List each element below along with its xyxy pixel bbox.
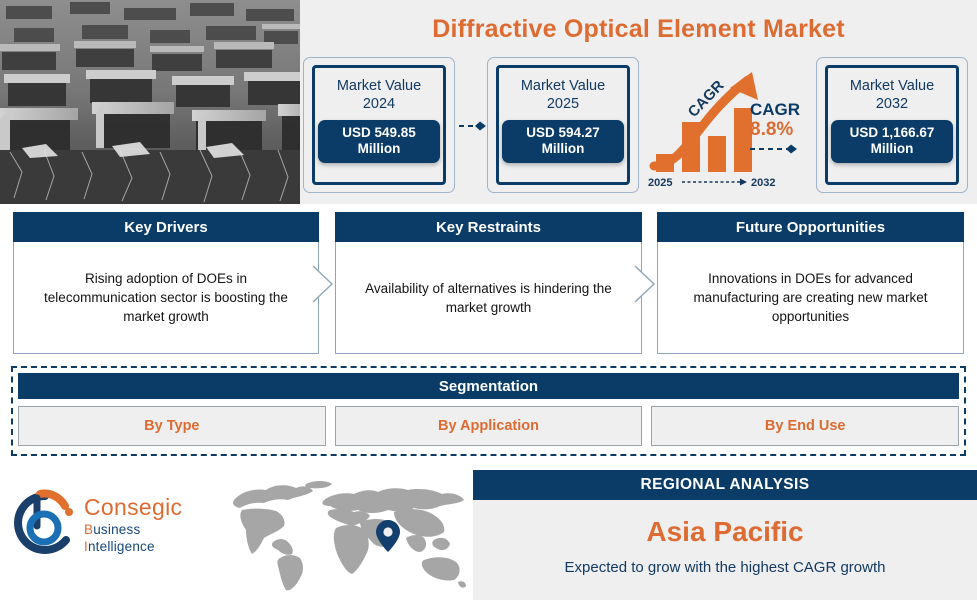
segmentation-section: Segmentation By Type By Application By E… — [11, 366, 966, 456]
segmentation-heading: Segmentation — [18, 373, 959, 399]
cagr-label: CAGR — [750, 100, 812, 119]
logo-tagline-w2: ntelligence — [88, 539, 155, 554]
market-value-year: 2024 — [363, 96, 395, 112]
company-logo: Consegic Business Intelligence — [14, 488, 214, 566]
cagr-start-year: 2025 — [648, 177, 672, 189]
market-value-card-2032: Market Value 2032 USD 1,166.67 Million — [816, 57, 968, 193]
logo-tagline: Business Intelligence — [84, 521, 214, 555]
cagr-end-year: 2032 — [751, 177, 775, 189]
market-value-card-inner: Market Value 2032 USD 1,166.67 Million — [825, 65, 959, 185]
segmentation-item-by-type[interactable]: By Type — [18, 406, 326, 446]
market-value-amount-line1: USD 549.85 — [342, 125, 416, 140]
cagr-value: 8.8% — [750, 119, 812, 141]
panel-key-restraints: Key Restraints Availability of alternati… — [335, 212, 642, 354]
consegic-mark-icon — [14, 488, 76, 560]
market-value-amount: USD 549.85 Million — [318, 120, 440, 163]
market-value-year: 2025 — [547, 96, 579, 112]
logo-tagline-w1: usiness — [93, 522, 140, 537]
page-title: Diffractive Optical Element Market — [300, 8, 977, 50]
market-value-card-inner: Market Value 2024 USD 549.85 Million — [312, 65, 446, 185]
cagr-readout: CAGR 8.8% — [750, 100, 812, 159]
market-value-amount-line1: USD 1,166.67 — [850, 125, 935, 140]
market-value-label: Market Value 2032 — [850, 77, 934, 113]
market-value-amount-line1: USD 594.27 — [526, 125, 600, 140]
connector-dashed-arrow-2 — [750, 144, 806, 154]
panel-body: Availability of alternatives is hinderin… — [335, 242, 642, 354]
panel-heading: Key Drivers — [13, 212, 319, 242]
segmentation-item-by-application[interactable]: By Application — [335, 406, 643, 446]
hero-sem-micrograph — [0, 0, 300, 204]
panel-future-opportunities: Future Opportunities Innovations in DOEs… — [657, 212, 964, 354]
segmentation-item-by-end-use[interactable]: By End Use — [651, 406, 959, 446]
market-value-amount: USD 594.27 Million — [502, 120, 624, 163]
market-value-year: 2032 — [876, 96, 908, 112]
panel-heading: Key Restraints — [335, 212, 642, 242]
regional-analysis-note: Expected to grow with the highest CAGR g… — [473, 559, 977, 576]
regional-analysis-region: Asia Pacific — [473, 516, 977, 548]
market-value-label-line1: Market Value — [521, 78, 605, 94]
logo-text: Consegic Business Intelligence — [84, 494, 214, 555]
chevron-right-icon — [634, 262, 658, 306]
panel-key-drivers: Key Drivers Rising adoption of DOEs in t… — [13, 212, 319, 354]
market-value-amount-unit: Million — [542, 141, 585, 156]
market-value-card-2024: Market Value 2024 USD 549.85 Million — [303, 57, 455, 193]
market-value-amount-unit: Million — [358, 141, 401, 156]
chevron-right-icon — [312, 262, 336, 306]
connector-dashed-arrow — [459, 121, 489, 131]
infographic-page: Diffractive Optical Element Market Marke… — [0, 0, 977, 600]
market-value-amount: USD 1,166.67 Million — [831, 120, 953, 163]
market-value-label-line1: Market Value — [337, 78, 421, 94]
market-value-amount-unit: Million — [871, 141, 914, 156]
segmentation-items: By Type By Application By End Use — [18, 406, 959, 446]
logo-tagline-b1: B — [84, 522, 93, 537]
panel-heading: Future Opportunities — [657, 212, 964, 242]
map-location-pin-icon — [376, 520, 400, 552]
regional-analysis-panel: REGIONAL ANALYSIS Asia Pacific Expected … — [473, 470, 977, 600]
world-map — [218, 476, 470, 594]
market-value-label: Market Value 2025 — [521, 77, 605, 113]
market-value-label-line1: Market Value — [850, 78, 934, 94]
regional-analysis-heading: REGIONAL ANALYSIS — [473, 470, 977, 500]
panel-body: Rising adoption of DOEs in telecommunica… — [13, 242, 319, 354]
logo-company-name: Consegic — [84, 494, 214, 521]
market-value-label: Market Value 2024 — [337, 77, 421, 113]
panel-body: Innovations in DOEs for advanced manufac… — [657, 242, 964, 354]
market-value-card-inner: Market Value 2025 USD 594.27 Million — [496, 65, 630, 185]
market-value-card-2025: Market Value 2025 USD 594.27 Million — [487, 57, 639, 193]
